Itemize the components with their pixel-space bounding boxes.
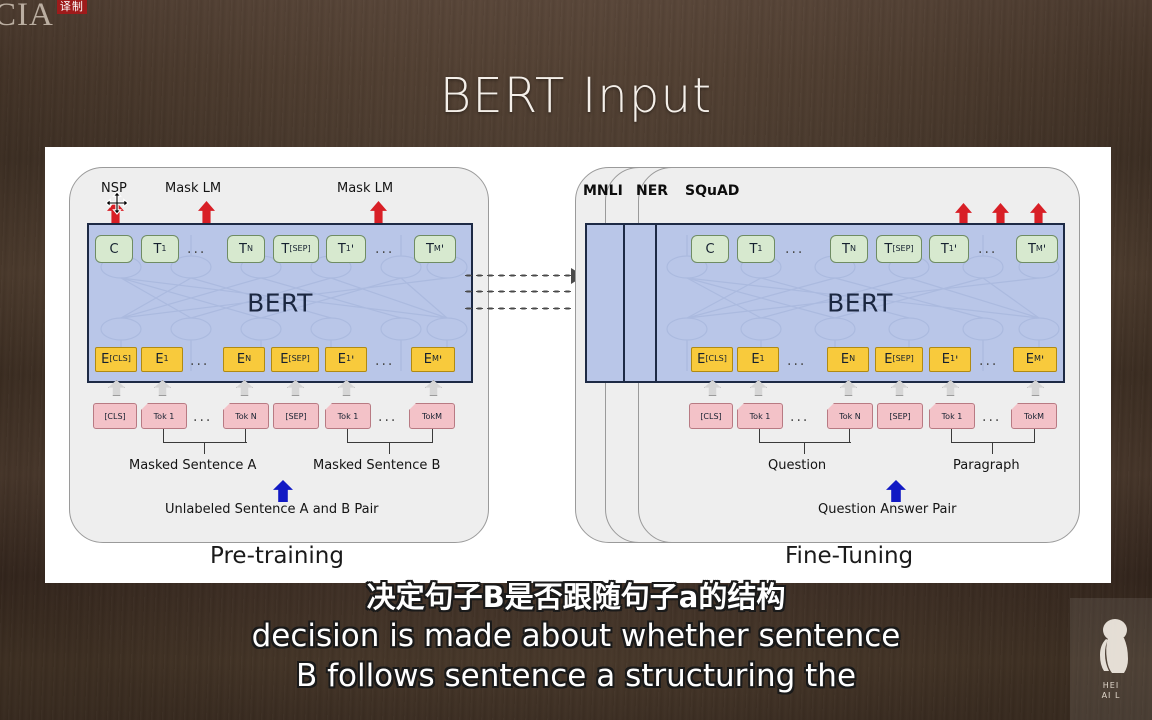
head-label-mask-lm-1: Mask LM bbox=[165, 181, 221, 196]
ft-t-chip-tn: TN bbox=[830, 235, 868, 263]
bert-figure-panel: NSP Mask LM Mask LM BERT bbox=[45, 147, 1111, 583]
task-tab-ner[interactable]: NER bbox=[636, 183, 668, 199]
phase-label-finetuning: Fine-Tuning bbox=[785, 543, 913, 569]
bracket-b-left bbox=[347, 429, 348, 443]
watermark-text: CIA bbox=[0, 0, 54, 32]
watermark-badge: 译制 bbox=[57, 0, 87, 14]
connector-dots-1 bbox=[463, 274, 573, 277]
ft-e-row-ellipsis-2: ... bbox=[979, 353, 998, 369]
ft-t-row-ellipsis-1: ... bbox=[785, 241, 804, 257]
subtitle-english-line1: decision is made about whether sentence bbox=[0, 616, 1152, 656]
bracket-b-stem bbox=[389, 442, 390, 454]
finetuning-bert-block-ner bbox=[623, 223, 659, 383]
subtitle-block: 决定句子B是否跟随句子a的结构 decision is made about w… bbox=[0, 578, 1152, 696]
ft-bracket-q-stem bbox=[804, 442, 805, 454]
t-chip-c: C bbox=[95, 235, 133, 263]
ft-bracket-p-right bbox=[1034, 429, 1035, 443]
t-chip-tsep: T[SEP] bbox=[273, 235, 319, 263]
unlabeled-pair-label: Unlabeled Sentence A and B Pair bbox=[165, 502, 379, 517]
phase-label-pretraining: Pre-training bbox=[210, 543, 344, 569]
subtitle-english-line2: B follows sentence a structuring the bbox=[0, 656, 1152, 696]
ft-token-row-ellipsis-1: ... bbox=[790, 409, 809, 425]
token-chip-tokm: TokM bbox=[409, 403, 455, 429]
ft-t-chip-tsep: T[SEP] bbox=[876, 235, 922, 263]
e-chip-esep: E[SEP] bbox=[271, 347, 319, 372]
e-chip-e1: E1 bbox=[141, 347, 183, 372]
head-label-mask-lm-2: Mask LM bbox=[337, 181, 393, 196]
t-chip-t1: T1 bbox=[141, 235, 179, 263]
t-chip-tn: TN bbox=[227, 235, 265, 263]
ft-t-chip-t1: T1 bbox=[737, 235, 775, 263]
t-chip-tmprime: TM' bbox=[414, 235, 456, 263]
ft-e-row-ellipsis-1: ... bbox=[787, 353, 806, 369]
ft-bracket-q-right bbox=[849, 429, 850, 443]
slide-title: BERT Input bbox=[0, 68, 1152, 124]
ft-e-chip-en: EN bbox=[827, 347, 869, 372]
t-chip-t1prime: T1' bbox=[326, 235, 366, 263]
finetuning-bert-block-mnli bbox=[585, 223, 625, 383]
t-row-ellipsis-1: ... bbox=[187, 241, 206, 257]
ft-e-chip-esep: E[SEP] bbox=[875, 347, 923, 372]
token-chip-tokn: Tok N bbox=[223, 403, 269, 429]
ft-bracket-p-stem bbox=[992, 442, 993, 454]
e-row-ellipsis-2: ... bbox=[375, 353, 394, 369]
question-label: Question bbox=[768, 458, 826, 473]
move-cursor bbox=[105, 191, 129, 215]
task-tab-squad[interactable]: SQuAD bbox=[685, 183, 739, 199]
bracket-b-right bbox=[432, 429, 433, 443]
ft-t-chip-tmprime: TM' bbox=[1016, 235, 1058, 263]
subtitle-chinese: 决定句子B是否跟随句子a的结构 bbox=[0, 578, 1152, 616]
bracket-a-stem bbox=[204, 442, 205, 454]
e-chip-ecls: E[CLS] bbox=[95, 347, 137, 372]
ft-token-chip-tok1-a: Tok 1 bbox=[737, 403, 783, 429]
question-answer-pair-label: Question Answer Pair bbox=[818, 502, 956, 517]
ft-token-chip-sep: [SEP] bbox=[877, 403, 923, 429]
masked-sentence-b-label: Masked Sentence B bbox=[313, 458, 440, 473]
ft-e-chip-emprime: EM' bbox=[1013, 347, 1057, 372]
ft-token-row-ellipsis-2: ... bbox=[982, 409, 1001, 425]
ft-token-chip-tokn: Tok N bbox=[827, 403, 873, 429]
channel-watermark: CIA 译制 bbox=[0, 0, 87, 32]
ft-t-chip-c: C bbox=[691, 235, 729, 263]
figure-stage: NSP Mask LM Mask LM BERT bbox=[45, 147, 1111, 583]
masked-sentence-a-label: Masked Sentence A bbox=[129, 458, 256, 473]
ft-bracket-p-left bbox=[951, 429, 952, 443]
finetuning-bert-label: BERT bbox=[657, 289, 1063, 318]
token-row-ellipsis-1: ... bbox=[193, 409, 212, 425]
bracket-a-left bbox=[163, 429, 164, 443]
ft-token-chip-tokm: TokM bbox=[1011, 403, 1057, 429]
paragraph-label: Paragraph bbox=[953, 458, 1020, 473]
ft-t-chip-t1prime: T1' bbox=[929, 235, 969, 263]
ft-token-chip-tok1-b: Tok 1 bbox=[929, 403, 975, 429]
bracket-a-right bbox=[245, 429, 246, 443]
ft-bracket-q-left bbox=[759, 429, 760, 443]
token-chip-tok1-b: Tok 1 bbox=[325, 403, 371, 429]
task-tab-mnli[interactable]: MNLI bbox=[583, 183, 623, 199]
e-row-ellipsis-1: ... bbox=[190, 353, 209, 369]
e-chip-emprime: EM' bbox=[411, 347, 455, 372]
ft-e-chip-e1prime: E1' bbox=[929, 347, 971, 372]
token-row-ellipsis-2: ... bbox=[378, 409, 397, 425]
ft-token-chip-cls: [CLS] bbox=[689, 403, 733, 429]
token-chip-tok1-a: Tok 1 bbox=[141, 403, 187, 429]
t-row-ellipsis-2: ... bbox=[375, 241, 394, 257]
ft-e-chip-ecls: E[CLS] bbox=[691, 347, 733, 372]
e-chip-e1prime: E1' bbox=[325, 347, 367, 372]
ft-t-row-ellipsis-2: ... bbox=[978, 241, 997, 257]
token-chip-cls: [CLS] bbox=[93, 403, 137, 429]
e-chip-en: EN bbox=[223, 347, 265, 372]
token-chip-sep: [SEP] bbox=[273, 403, 319, 429]
pretraining-bert-label: BERT bbox=[89, 289, 471, 318]
ft-e-chip-e1: E1 bbox=[737, 347, 779, 372]
